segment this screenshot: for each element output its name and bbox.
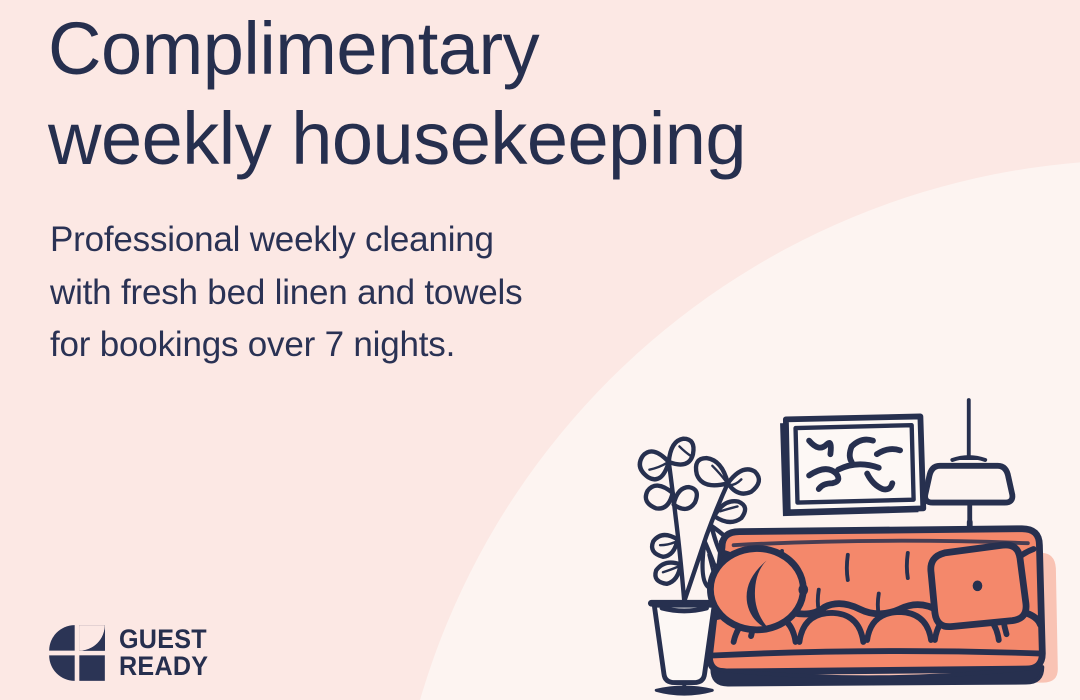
brand-logo[interactable]: GUEST READY (48, 624, 215, 682)
banner-content: Complimentary weekly housekeeping Profes… (0, 0, 1080, 700)
subtitle-text: Professional weekly cleaning with fresh … (50, 214, 690, 372)
square-cushion-icon (931, 545, 1026, 627)
framed-picture-icon (780, 416, 923, 516)
logo-line-1: GUEST (119, 626, 208, 653)
promo-banner: Complimentary weekly housekeeping Profes… (0, 0, 1080, 700)
guestready-mark-icon (48, 624, 106, 682)
logo-wordmark: GUEST READY (119, 626, 215, 679)
sofa-icon (709, 529, 1057, 685)
living-room-illustration (612, 400, 1072, 700)
living-room-svg (612, 400, 1072, 700)
pendant-lamp-icon (925, 400, 1012, 528)
page-title: Complimentary weekly housekeeping (48, 4, 948, 185)
round-cushion-icon (710, 549, 808, 631)
logo-line-2: READY (119, 653, 208, 680)
